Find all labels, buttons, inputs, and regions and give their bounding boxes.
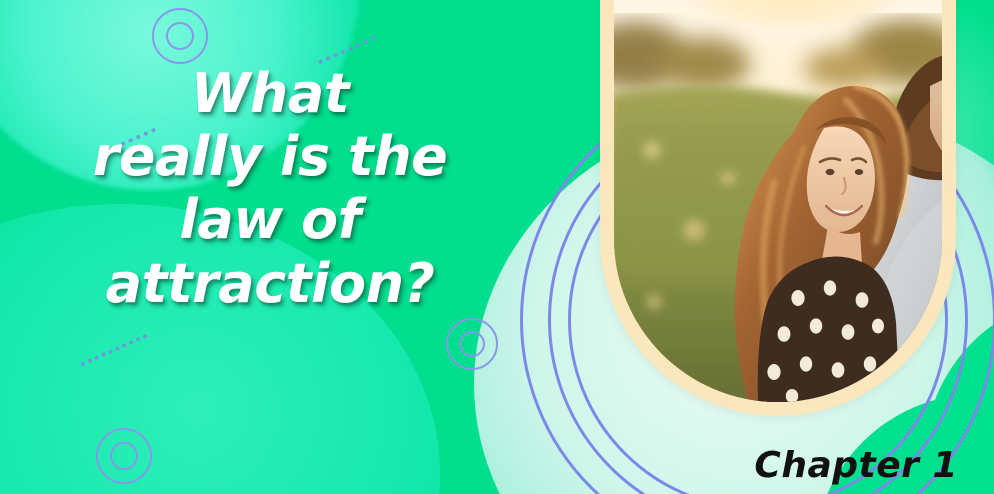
photo-frame [600, 0, 956, 416]
page-title: What really is the law of attraction? [30, 62, 510, 315]
ring-bottom-left-inner-icon [110, 442, 138, 470]
chapter-label: Chapter 1 [754, 445, 958, 486]
couple-photo [614, 0, 942, 402]
ring-center-inner-icon [459, 331, 485, 357]
couple-photo-illustration [614, 0, 942, 402]
ring-top-left-inner-icon [166, 22, 194, 50]
slide-canvas: What really is the law of attraction? Ch… [0, 0, 994, 494]
